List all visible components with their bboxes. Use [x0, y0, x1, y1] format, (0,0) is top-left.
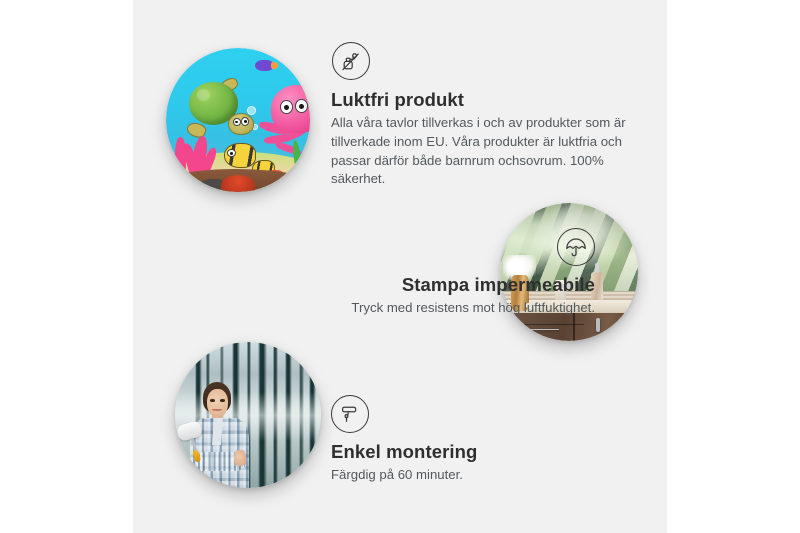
painter-forest-scene: [175, 342, 321, 488]
drawer-seam: [508, 324, 584, 326]
eye-icon: [227, 149, 236, 158]
feature-description: Tryck med resistens mot hög luftfuktighe…: [193, 299, 595, 318]
feature-description: Färgdig på 60 minuter.: [331, 466, 631, 485]
sea-turtle: [186, 80, 252, 138]
hand: [234, 450, 245, 466]
octopus: [258, 85, 310, 160]
feature-title: Stampa impermeabile: [193, 274, 595, 295]
paint-roller-icon: [331, 395, 369, 433]
purple-fish: [255, 60, 272, 72]
eye-icon: [295, 99, 308, 113]
eyes-icon: [210, 399, 225, 403]
image-painter-forest-wallpaper: [175, 342, 321, 488]
feature-easy-mount: Enkel montering Färgdig på 60 minuter.: [331, 395, 631, 485]
turtle-head: [228, 113, 254, 135]
image-underwater-cartoon-mural: [166, 48, 310, 192]
feature-description: Alla våra tavlor tillverkas i och av pro…: [331, 114, 631, 189]
feature-easy-mount-icon-wrap: [331, 395, 631, 433]
feature-waterproof-icon-wrap: [193, 228, 595, 266]
painter-person: [184, 380, 266, 488]
eye-icon: [241, 117, 249, 126]
door-handle: [596, 318, 600, 332]
product-feature-graphic: Luktfri produkt Alla våra tavlor tillver…: [0, 0, 800, 533]
striped-fish: [224, 143, 256, 168]
feature-odourless-icon-wrap: [331, 42, 631, 80]
crab: [221, 175, 256, 192]
underwater-scene: [166, 48, 310, 192]
feature-waterproof: Stampa impermeabile Tryck med resistens …: [193, 228, 595, 318]
eye-icon: [233, 118, 241, 127]
umbrella-icon: [557, 228, 595, 266]
octopus-head: [271, 85, 310, 133]
feature-odourless: Luktfri produkt Alla våra tavlor tillver…: [331, 42, 631, 189]
no-fragrance-icon: [332, 42, 370, 80]
content-panel: Luktfri produkt Alla våra tavlor tillver…: [133, 0, 667, 533]
feature-title: Enkel montering: [331, 441, 631, 462]
feature-title: Luktfri produkt: [331, 89, 631, 110]
drawer-handle: [522, 329, 559, 330]
eye-icon: [280, 100, 293, 114]
